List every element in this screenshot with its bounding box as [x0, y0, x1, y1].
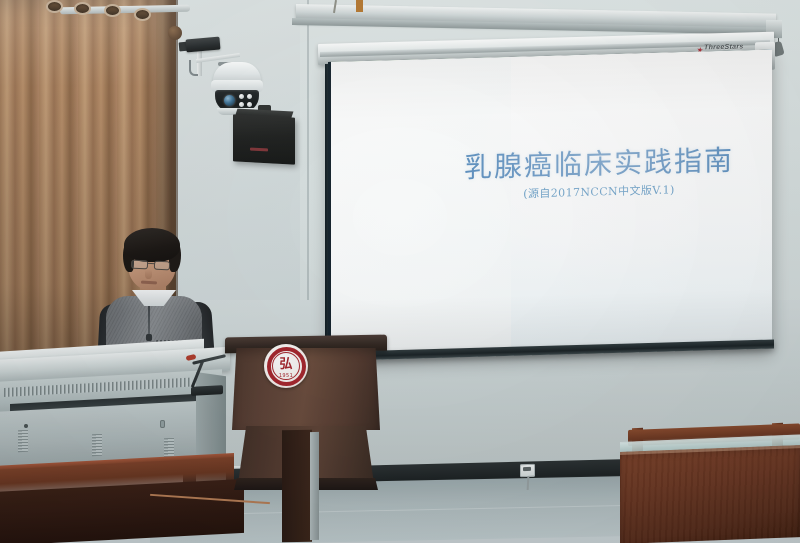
- curtain-grommet-icon: [134, 8, 151, 21]
- projection-screen: 乳腺癌临床实践指南 (源自2017NCCN中文版V.1): [328, 50, 772, 360]
- console-knob-icon[interactable]: [24, 424, 28, 428]
- outlet-socket-slot: [523, 467, 531, 471]
- metal-column-edge: [310, 432, 319, 540]
- ir-led-icon: [239, 94, 244, 99]
- curtain-grommet-icon: [74, 2, 91, 15]
- jacket-zipper: [148, 302, 150, 336]
- console-lock-icon[interactable]: [160, 420, 165, 428]
- lecture-hall-photo: ThreeStars 乳腺癌临床实践指南 (源自2017NCCN中文版V.1): [0, 0, 800, 543]
- slide-title: 乳腺癌临床实践指南: [425, 145, 772, 185]
- slide-text-block: 乳腺癌临床实践指南 (源自2017NCCN中文版V.1): [425, 145, 772, 205]
- ir-led-icon: [247, 94, 252, 99]
- glasses-left-lens-icon: [131, 260, 148, 270]
- camera-bracket-hook: [189, 60, 198, 76]
- ir-led-icon: [247, 102, 252, 107]
- rail-bracket-icon: [356, 0, 363, 12]
- console-slot-vent: [92, 434, 102, 457]
- zipper-pull-icon: [146, 334, 152, 341]
- podium-side-shadow: [282, 430, 312, 543]
- slide-white-fill: [511, 50, 772, 355]
- console-slot-vent: [18, 430, 28, 453]
- university-emblem-icon: 弘 1951: [264, 344, 308, 388]
- screen-surface: 乳腺癌临床实践指南 (源自2017NCCN中文版V.1): [331, 50, 772, 360]
- emblem-mark: 弘: [279, 357, 293, 372]
- microphone-base: [191, 385, 223, 396]
- glasses-right-lens-icon: [154, 261, 170, 271]
- curtain-rod-finial: [168, 26, 182, 40]
- desk-wood-grain: [620, 445, 800, 543]
- emblem-year: 1951: [264, 373, 308, 379]
- hair: [124, 228, 180, 262]
- nose: [145, 269, 152, 279]
- camera-lens-icon: [224, 95, 235, 106]
- ir-led-icon: [239, 102, 244, 107]
- curtain-grommet-icon: [104, 4, 121, 17]
- curtain-grommet-icon: [46, 0, 63, 13]
- wall-speaker-icon: [233, 114, 295, 164]
